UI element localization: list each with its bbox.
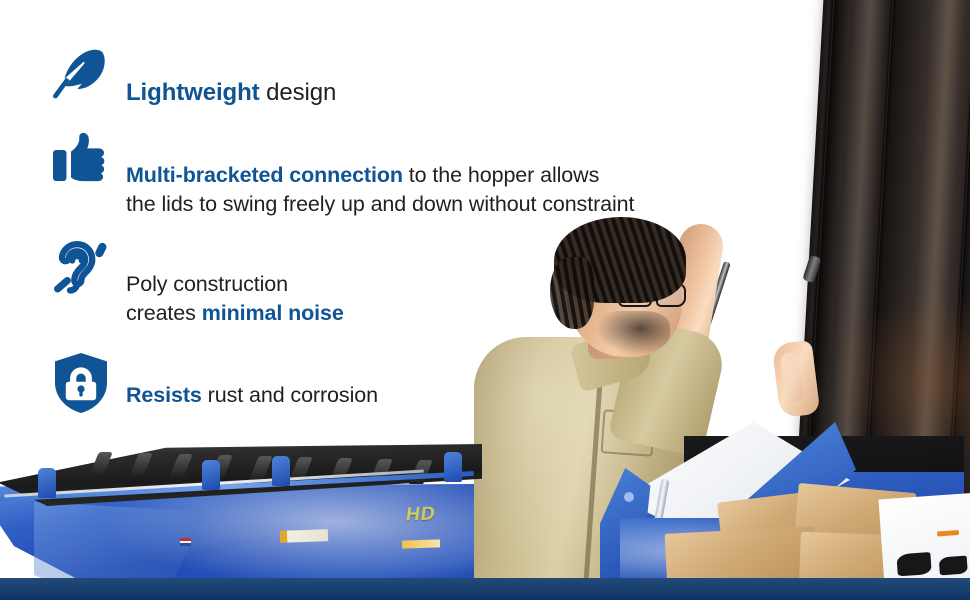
feature-text-rust-resistant: Resists rust and corrosion	[126, 350, 378, 410]
lid-bracket-3	[272, 456, 290, 486]
lid-bracket-4	[444, 452, 462, 482]
hopper-brand-badge: HD	[404, 503, 437, 526]
lid-bracket-1	[38, 468, 56, 498]
feature-icon-slot	[52, 46, 126, 100]
hopper-with-open-lid	[600, 430, 970, 600]
feature-list: Lightweight design Multi-bracketed conne…	[0, 0, 740, 430]
feature-item-poly-construction: Poly construction creates minimal noise	[52, 239, 740, 328]
thumbs-up-icon	[52, 132, 110, 184]
feature-highlight: Multi-bracketed connection	[126, 163, 403, 187]
warning-decal	[280, 529, 328, 543]
feature-icon-slot	[52, 350, 126, 414]
made-in-usa-flag-decal	[180, 538, 191, 546]
capacity-decal	[402, 539, 440, 548]
ear-hearing-icon	[52, 241, 110, 297]
bottom-bar-gloss	[0, 578, 970, 600]
feature-text-poly-construction: Poly construction creates minimal noise	[126, 239, 344, 328]
feature-item-rust-resistant: Resists rust and corrosion	[52, 350, 740, 414]
feature-rest: rust and corrosion	[202, 383, 378, 407]
feature-text-lightweight: Lightweight design	[126, 46, 336, 108]
shield-lock-icon	[52, 352, 110, 414]
feature-highlight: minimal noise	[202, 301, 344, 325]
bottom-accent-bar	[0, 578, 970, 600]
worker-raised-hand	[772, 340, 821, 418]
feature-icon-slot	[52, 239, 126, 297]
feature-icon-slot	[52, 130, 126, 184]
feature-highlight: Lightweight	[126, 79, 260, 106]
feature-item-multi-bracketed: Multi-bracketed connection to the hopper…	[52, 130, 740, 219]
lid-bracket-2	[202, 460, 220, 490]
feature-rest: design	[260, 79, 337, 106]
feather-icon	[52, 48, 110, 100]
foreground-hopper: HD	[0, 440, 494, 600]
feature-item-lightweight: Lightweight design	[52, 46, 740, 108]
feature-highlight: Resists	[126, 383, 202, 407]
feature-text-multi-bracketed: Multi-bracketed connection to the hopper…	[126, 130, 634, 219]
feature-banner: HD Lightweight design	[0, 0, 970, 600]
